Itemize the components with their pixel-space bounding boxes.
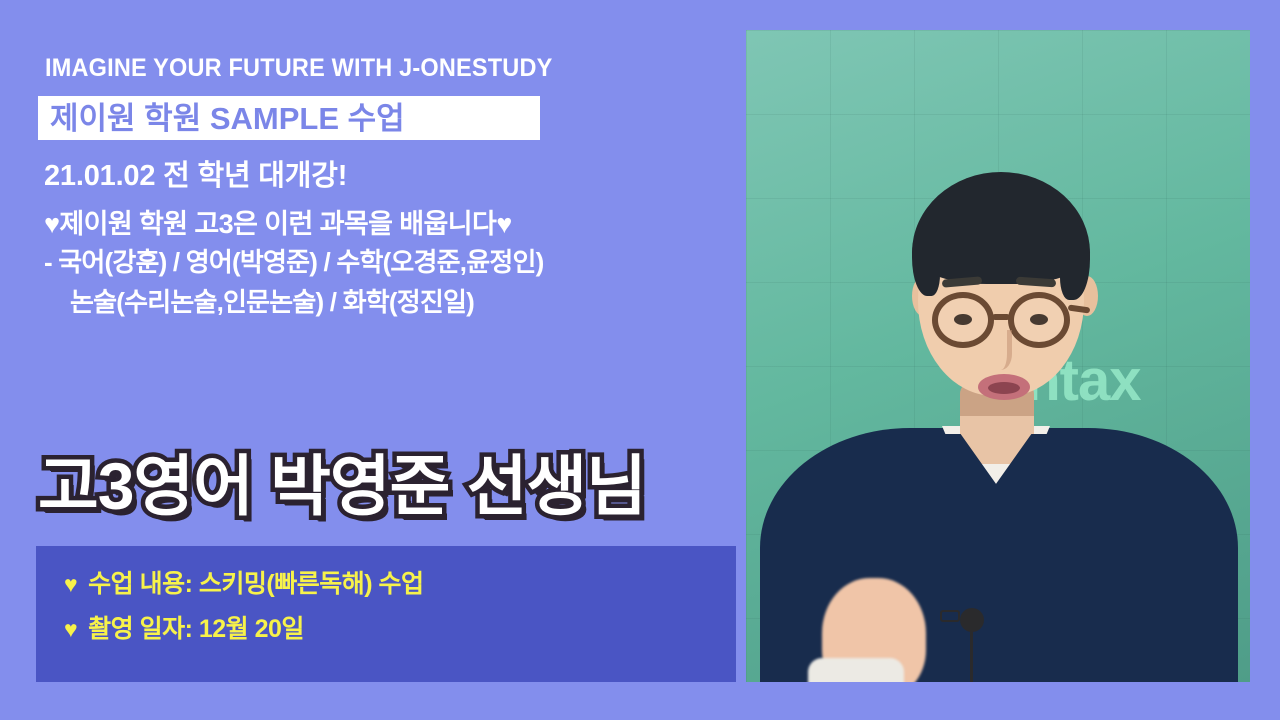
lesson-content-text: 수업 내용: 스키밍(빠른독해) 수업 (88, 572, 423, 597)
subjects-heading: ♥제이원 학원 고3은 이런 과목을 배웁니다♥ (44, 206, 744, 243)
video-panel: yntax (746, 30, 1250, 682)
microphone-wire (970, 630, 973, 682)
subjects-block: ♥제이원 학원 고3은 이런 과목을 배웁니다♥ - 국어(강훈) / 영어(박… (44, 206, 744, 322)
open-date-line: 21.01.02 전 학년 대개강! (44, 152, 347, 194)
title-band-text: 제이원 학원 SAMPLE 수업 (50, 103, 405, 134)
poster-root: IMAGINE YOUR FUTURE WITH J-ONESTUDY 제이원 … (0, 0, 1280, 720)
mouth-inner (988, 382, 1020, 394)
info-row-lesson-content: ♥ 수업 내용: 스키밍(빠른독해) 수업 (64, 572, 736, 597)
glasses-lens-right (1008, 292, 1070, 348)
nose (984, 330, 1012, 370)
lapel-microphone-icon (960, 608, 984, 632)
info-row-recording-date: ♥ 촬영 일자: 12월 20일 (64, 617, 736, 642)
recording-date-text: 촬영 일자: 12월 20일 (88, 617, 304, 642)
heart-icon: ♥ (64, 573, 77, 596)
shirt-cuff (808, 658, 904, 682)
hair-side-left (912, 226, 940, 296)
instructor-figure (746, 30, 1250, 682)
title-highlight-band: 제이원 학원 SAMPLE 수업 (38, 96, 540, 140)
eyebrow-tagline: IMAGINE YOUR FUTURE WITH J-ONESTUDY (45, 54, 552, 83)
subjects-line-2: 논술(수리논술,인문논술) / 화학(정진일) (44, 283, 744, 323)
heart-icon: ♥ (64, 618, 77, 641)
class-info-box: ♥ 수업 내용: 스키밍(빠른독해) 수업 ♥ 촬영 일자: 12월 20일 (36, 546, 736, 682)
glasses-bridge (992, 314, 1010, 320)
microphone-clip (940, 610, 960, 622)
course-headline: 고3영어 박영준 선생님 (38, 452, 646, 521)
subjects-line-1: - 국어(강훈) / 영어(박영준) / 수학(오경준,윤정인) (44, 243, 744, 283)
left-text-column: IMAGINE YOUR FUTURE WITH J-ONESTUDY 제이원 … (0, 0, 746, 720)
